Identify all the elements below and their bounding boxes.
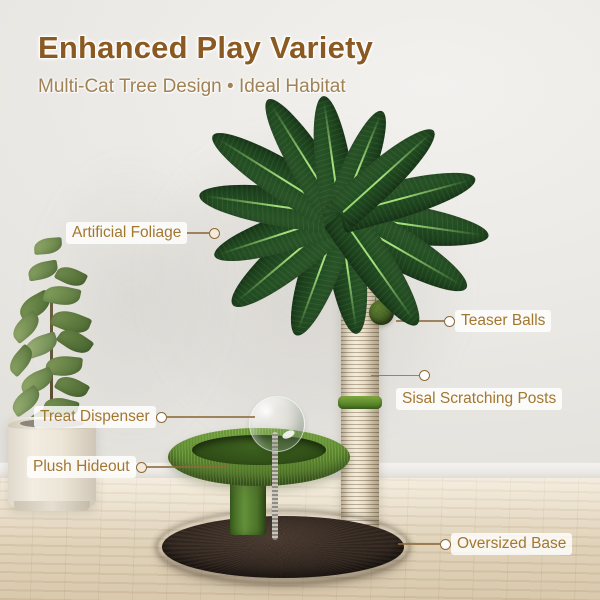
glass-highlight [281,429,296,441]
callout-line-sisal-scratching-posts [371,375,419,376]
callout-label-plush-hideout: Plush Hideout [27,456,136,478]
callout-artificial-foliage: Artificial Foliage [66,222,220,244]
oversized-plush-base [162,516,404,578]
callout-label-treat-dispenser: Treat Dispenser [34,406,156,428]
pot-foot [14,501,90,511]
callout-line-oversized-base [398,543,440,544]
callout-sisal-leader [371,370,430,381]
callout-line-artificial-foliage [187,232,209,233]
page-subtitle: Multi-Cat Tree Design • Ideal Habitat [38,76,346,98]
callout-dot-oversized-base [440,539,451,550]
artificial-palm-foliage [190,120,490,330]
callout-plush-hideout: Plush Hideout [27,456,229,478]
callout-dot-teaser-balls [444,316,455,327]
callout-dot-plush-hideout [136,462,147,473]
callout-label-artificial-foliage: Artificial Foliage [66,222,187,244]
treat-dispenser-ball [249,396,305,452]
infographic-canvas: Enhanced Play Variety Multi-Cat Tree Des… [0,0,600,600]
callout-label-sisal-scratching-posts: Sisal Scratching Posts [396,388,562,410]
callout-dot-sisal-scratching-posts [419,370,430,381]
callout-label-teaser-balls: Teaser Balls [455,310,551,332]
trunk-green-band [338,396,382,409]
callout-dot-treat-dispenser [156,412,167,423]
callout-oversized-base: Oversized Base [398,533,572,555]
callout-line-treat-dispenser [167,416,255,417]
callout-sisal-scratching-posts: Sisal Scratching Posts [396,388,562,410]
callout-line-plush-hideout [147,466,229,467]
page-title: Enhanced Play Variety [38,30,373,66]
callout-treat-dispenser: Treat Dispenser [34,406,255,428]
callout-label-oversized-base: Oversized Base [451,533,572,555]
